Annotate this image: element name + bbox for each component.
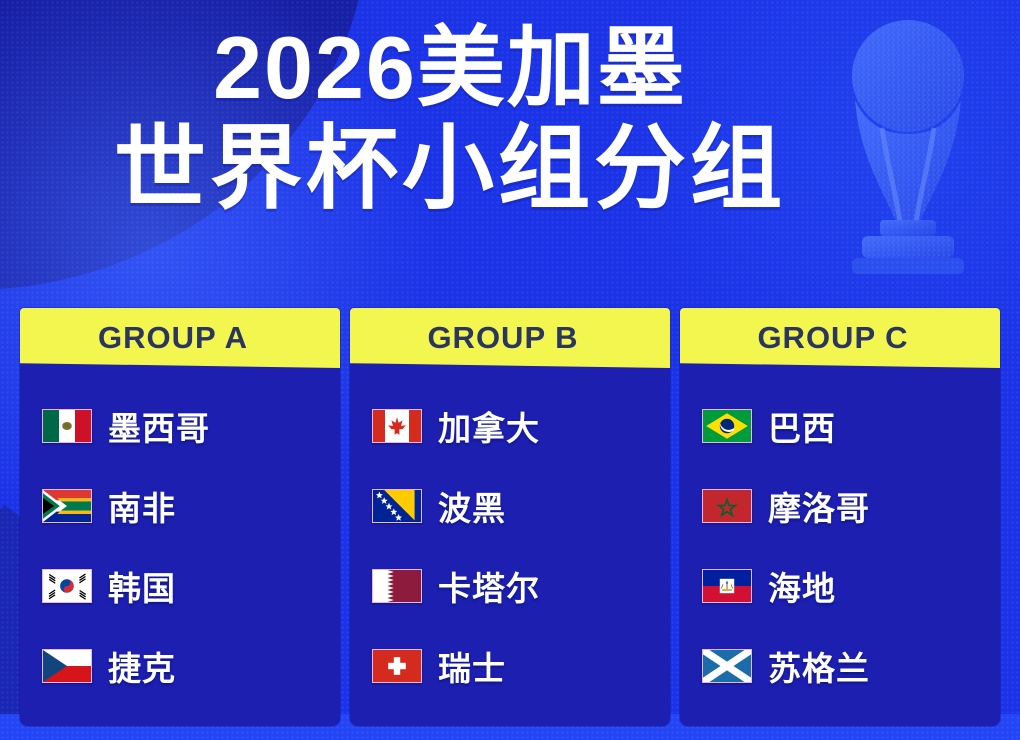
team-name: 波黑 [438,482,506,530]
group-card-b[interactable]: GROUP B 加拿大 波黑 [350,308,670,726]
team-row[interactable]: 捷克 [42,626,340,706]
team-name: 瑞士 [438,642,506,690]
team-name: 韩国 [108,562,176,610]
group-header-b: GROUP B [350,308,670,368]
team-name: 巴西 [768,402,836,450]
team-row[interactable]: 韩国 [42,546,340,626]
team-row[interactable]: 瑞士 [372,626,670,706]
group-label-b: GROUP B [427,320,592,356]
team-row[interactable]: 摩洛哥 [702,466,1000,546]
group-card-c[interactable]: GROUP C 巴西 摩洛哥 [680,308,1000,726]
team-list-c: 巴西 摩洛哥 海地 苏 [680,368,1000,706]
team-name: 卡塔尔 [438,562,540,610]
group-header-c: GROUP C [680,308,1000,368]
flag-canada-icon [372,409,422,443]
flag-south-korea-icon [42,569,92,603]
team-name: 捷克 [108,642,176,690]
flag-morocco-icon [702,489,752,523]
flag-qatar-icon [372,569,422,603]
flag-czech-republic-icon [42,649,92,683]
group-columns: GROUP A 墨西哥 南非 [20,308,1000,726]
group-label-c: GROUP C [757,320,922,356]
team-name: 加拿大 [438,402,540,450]
team-row[interactable]: 卡塔尔 [372,546,670,626]
team-row[interactable]: 墨西哥 [42,386,340,466]
team-row[interactable]: 巴西 [702,386,1000,466]
team-name: 南非 [108,482,176,530]
team-name: 苏格兰 [768,642,870,690]
poster-title: 2026美加墨 世界杯小组分组 [0,22,1020,217]
title-line-2: 世界杯小组分组 [0,122,900,218]
team-row[interactable]: 苏格兰 [702,626,1000,706]
team-name: 海地 [768,562,836,610]
flag-scotland-icon [702,649,752,683]
team-row[interactable]: 海地 [702,546,1000,626]
flag-south-africa-icon [42,489,92,523]
flag-bosnia-herzegovina-icon [372,489,422,523]
team-row[interactable]: 波黑 [372,466,670,546]
team-name: 墨西哥 [108,402,210,450]
group-label-a: GROUP A [98,320,262,356]
title-line-1: 2026美加墨 [0,22,900,114]
flag-mexico-icon [42,409,92,443]
flag-haiti-icon [702,569,752,603]
flag-brazil-icon [702,409,752,443]
team-row[interactable]: 南非 [42,466,340,546]
team-name: 摩洛哥 [768,482,870,530]
team-list-a: 墨西哥 南非 韩国 捷 [20,368,340,706]
group-header-a: GROUP A [20,308,340,368]
poster-canvas: 2026美加墨 世界杯小组分组 GROUP A 墨西哥 南 [0,0,1020,740]
team-list-b: 加拿大 波黑 卡塔尔 [350,368,670,706]
flag-switzerland-icon [372,649,422,683]
team-row[interactable]: 加拿大 [372,386,670,466]
group-card-a[interactable]: GROUP A 墨西哥 南非 [20,308,340,726]
